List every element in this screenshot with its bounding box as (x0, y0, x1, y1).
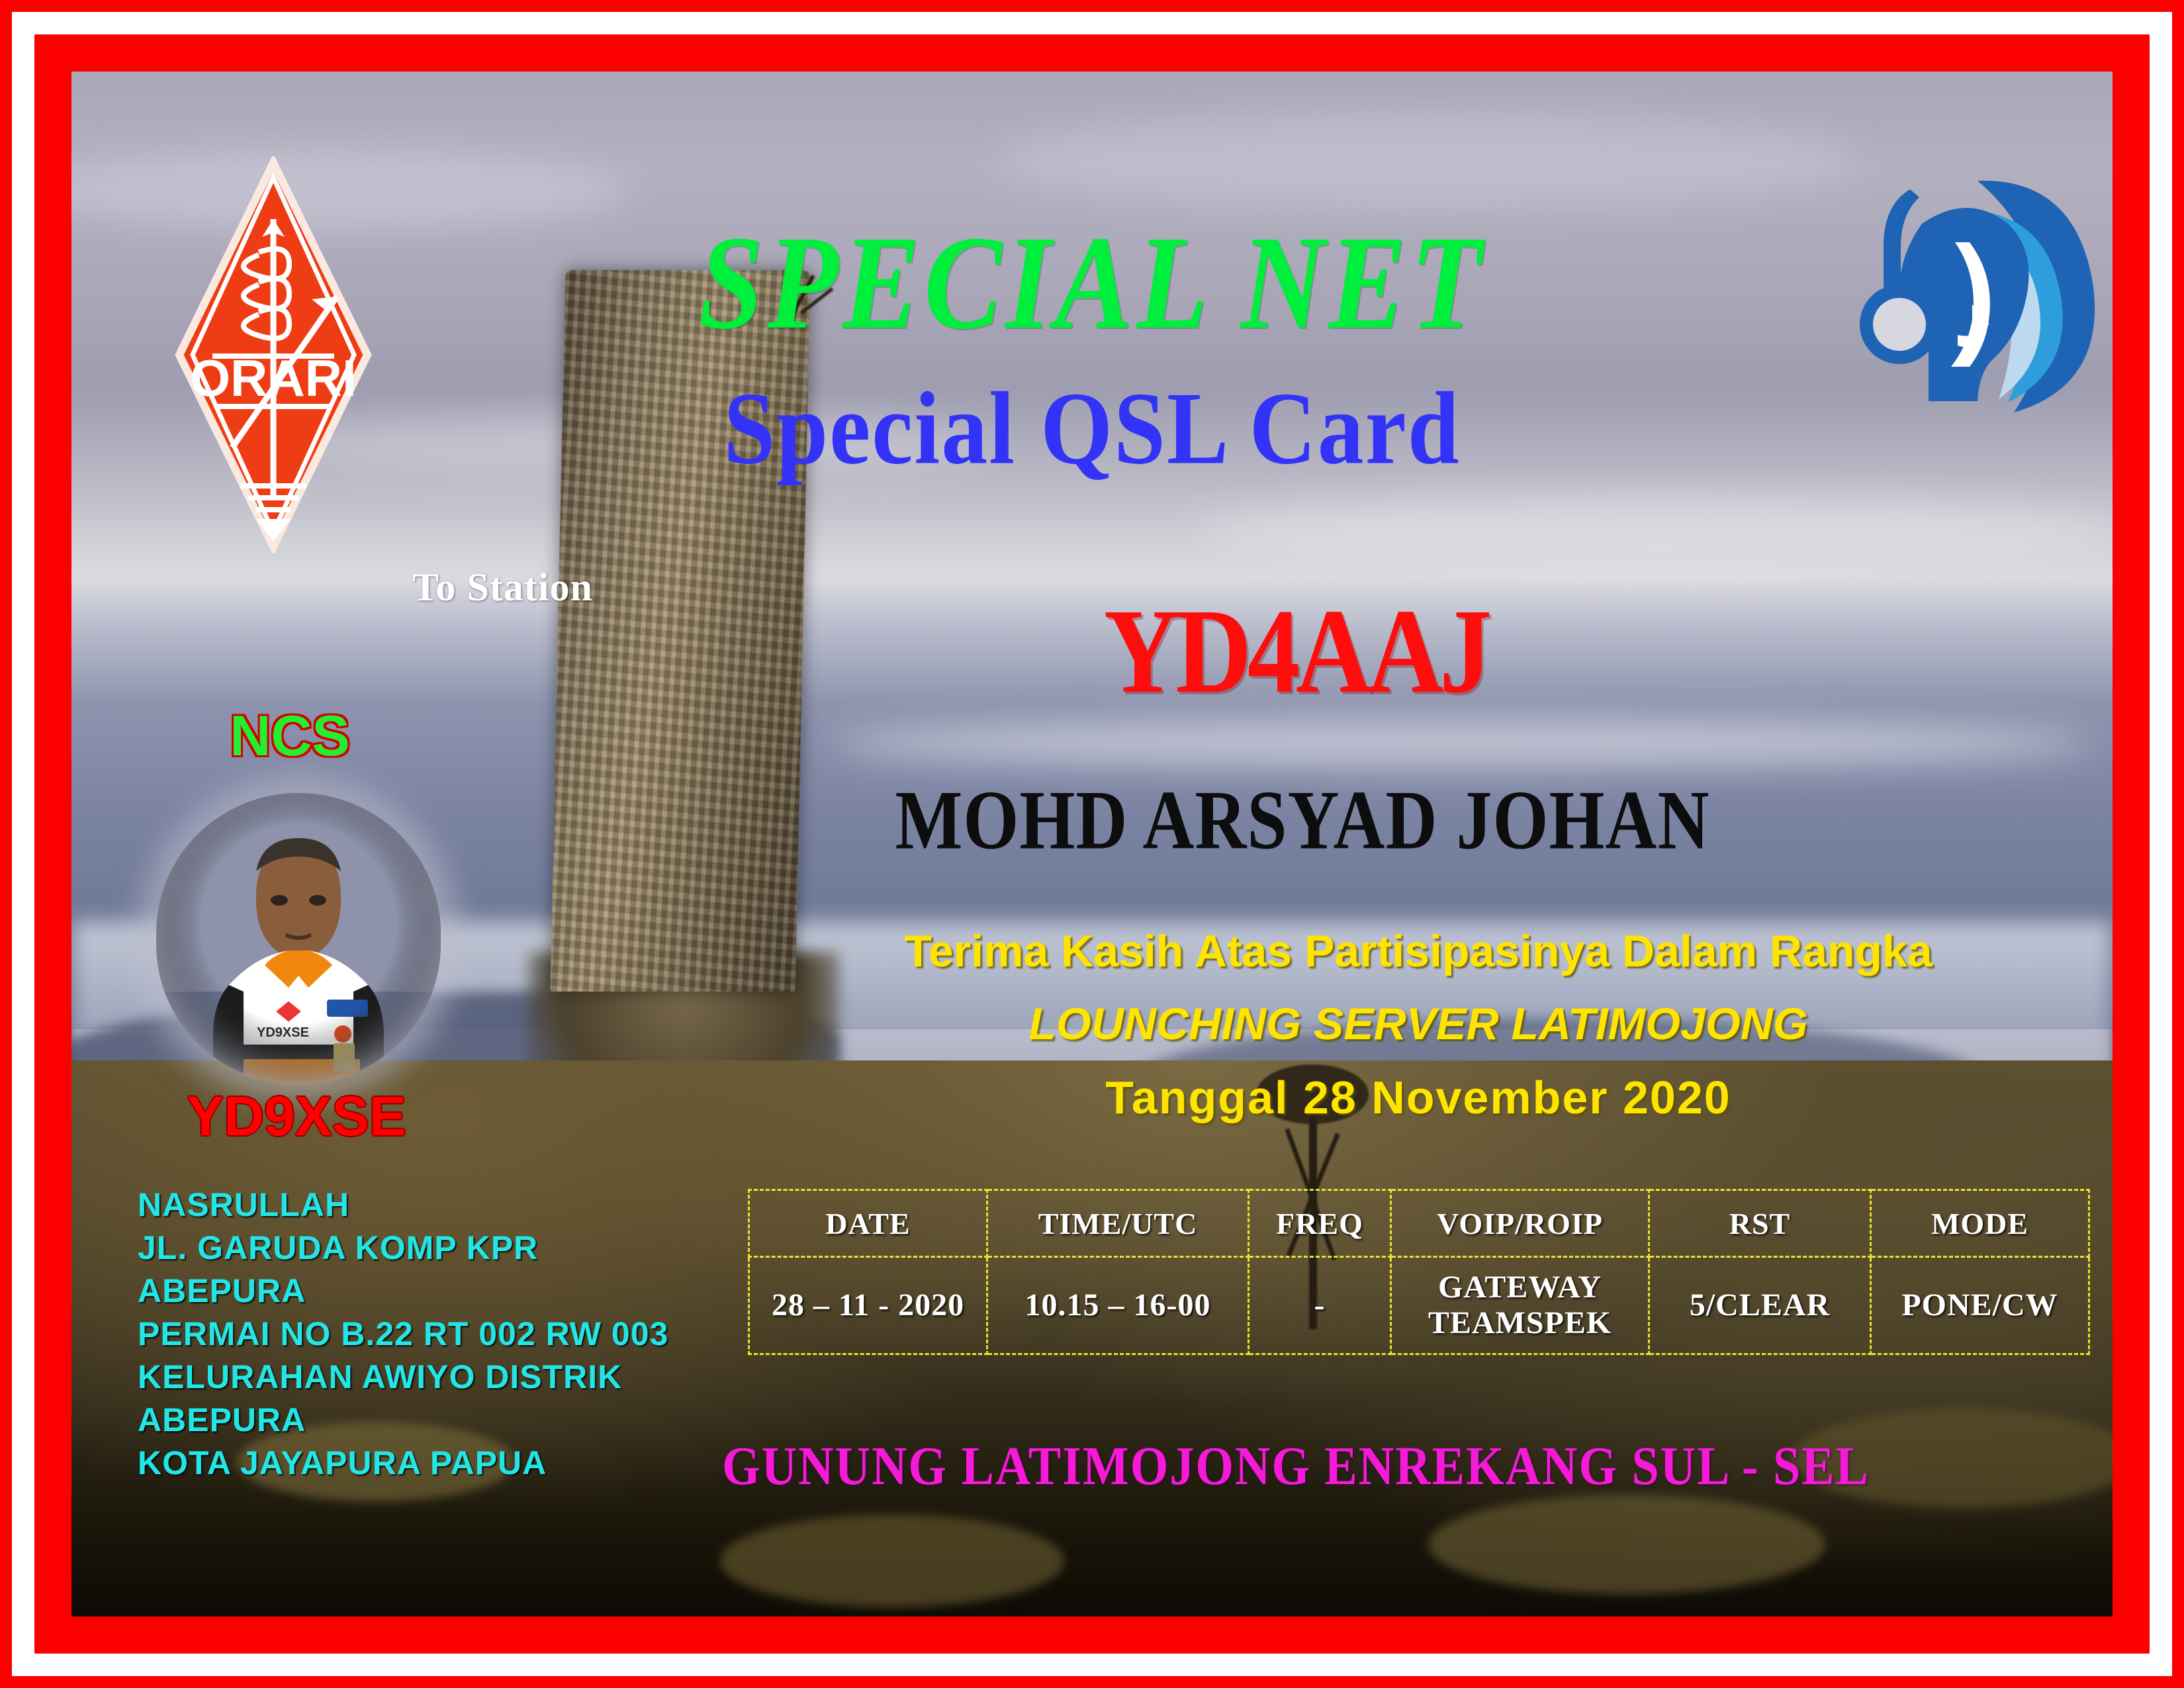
qsl-card: ORARI (0, 0, 2184, 1688)
qso-log-table: DATE TIME/UTC FREQ VOIP/ROIP RST MODE 28… (748, 1189, 2090, 1355)
column-header-date: DATE (749, 1190, 987, 1257)
address-line: KELURAHAN AWIYO DISTRIK (138, 1356, 707, 1399)
title-special-qsl-card: Special QSL Card (71, 377, 2113, 481)
to-station-label: To Station (412, 565, 593, 610)
recipient-callsign: YD4AAJ (910, 582, 1682, 721)
address-line: ABEPURA (138, 1399, 707, 1442)
address-line: NASRULLAH (138, 1184, 707, 1227)
card-inner-red-frame: ORARI (34, 34, 2150, 1654)
thanks-line-3: Tanggal 28 November 2020 (766, 1071, 2070, 1124)
table-row: 28 – 11 - 2020 10.15 – 16-00 - GATEWAY T… (749, 1257, 2089, 1354)
ncs-operator-photo: YD9XSE (156, 793, 441, 1084)
mountain-location-line: GUNUNG LATIMOJONG ENREKANG SUL - SEL (654, 1435, 1938, 1498)
column-header-voip: VOIP/ROIP (1391, 1190, 1649, 1257)
column-header-mode: MODE (1871, 1190, 2089, 1257)
ncs-callsign: YD9XSE (151, 1084, 442, 1149)
column-header-rst: RST (1649, 1190, 1871, 1257)
cell-voip-line1: GATEWAY (1438, 1270, 1602, 1305)
mailing-address-block: NASRULLAH JL. GARUDA KOMP KPR ABEPURA PE… (138, 1184, 707, 1485)
cell-date: 28 – 11 - 2020 (749, 1257, 987, 1354)
thanks-line-1: Terima Kasih Atas Partisipasinya Dalam R… (766, 925, 2070, 977)
title-special-net: SPECIAL NET (71, 216, 2113, 350)
cell-freq: - (1249, 1257, 1391, 1354)
cell-rst: 5/CLEAR (1649, 1257, 1871, 1354)
column-header-time: TIME/UTC (987, 1190, 1249, 1257)
address-line: JL. GARUDA KOMP KPR (138, 1227, 707, 1270)
ncs-label: NCS (204, 704, 376, 769)
operator-portrait-illustration: YD9XSE (156, 793, 441, 1084)
column-header-freq: FREQ (1249, 1190, 1391, 1257)
cell-voip: GATEWAY TEAMSPEK (1391, 1257, 1649, 1354)
card-white-band: ORARI (12, 12, 2172, 1676)
table-header-row: DATE TIME/UTC FREQ VOIP/ROIP RST MODE (749, 1190, 2089, 1257)
address-line: PERMAI NO B.22 RT 002 RW 003 (138, 1313, 707, 1356)
address-line: ABEPURA (138, 1270, 707, 1313)
cell-mode: PONE/CW (1871, 1257, 2089, 1354)
address-line: KOTA JAYAPURA PAPUA (138, 1442, 707, 1485)
thanks-line-2: LOUNCHING SERVER LATIMOJONG (766, 998, 2070, 1050)
background-photo-mountain-summit: ORARI (71, 71, 2113, 1617)
recipient-operator-name: MOHD ARSYAD JOHAN (773, 773, 1832, 869)
cell-voip-line2: TEAMSPEK (1428, 1305, 1612, 1340)
cell-time: 10.15 – 16-00 (987, 1257, 1249, 1354)
